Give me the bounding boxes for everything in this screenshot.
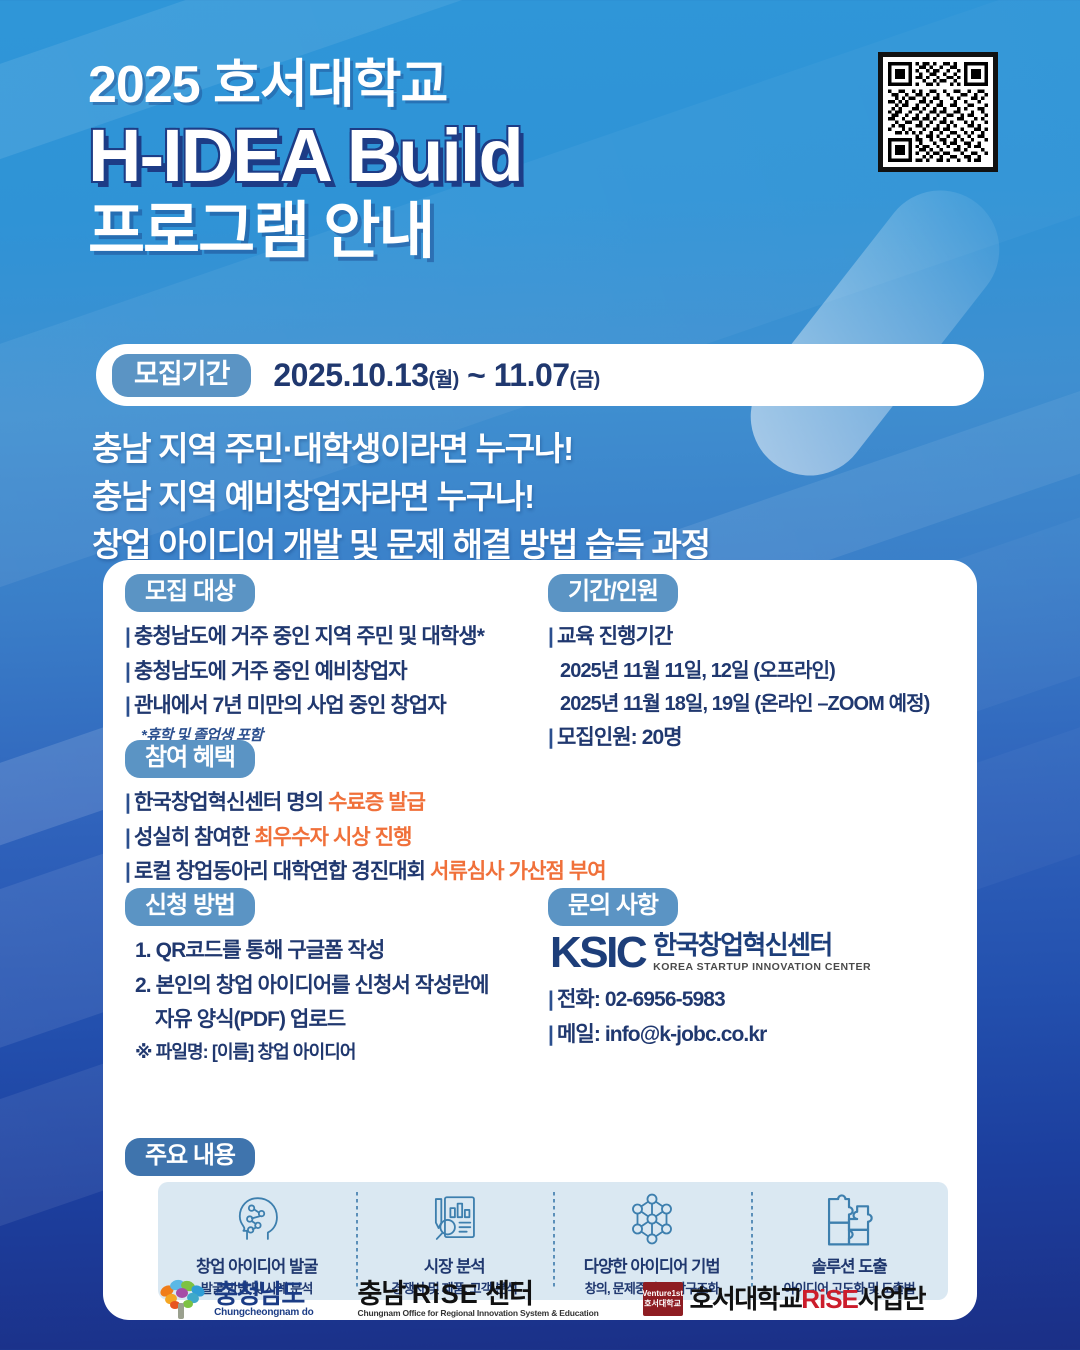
list-item: 1. QR코드를 통해 구글폼 작성 <box>135 934 555 969</box>
chungcheongnam-do-logo: 충청남도 Chungcheongnam do <box>155 1277 313 1321</box>
section-apply-title: 신청 방법 <box>125 888 255 926</box>
flower-tree-icon <box>155 1277 207 1321</box>
recruitment-period-bar: 모집기간 2025.10.13(월) ~ 11.07(금) <box>96 344 984 406</box>
section-contents-title: 주요 내용 <box>125 1138 255 1176</box>
qr-code[interactable] <box>878 52 998 172</box>
head-idea-icon <box>228 1190 286 1248</box>
recruitment-period-value: 2025.10.13(월) ~ 11.07(금) <box>273 357 599 394</box>
chungnam-rise-name-kr: 충남 RiSE 센터 <box>358 1281 599 1308</box>
chungnam-rise-logo: 충남 RiSE 센터 Chungnam Office for Regional … <box>358 1281 599 1318</box>
section-target: 모집 대상 |충청남도에 거주 중인 지역 주민 및 대학생* |충청남도에 거… <box>125 574 555 745</box>
section-target-title: 모집 대상 <box>125 574 255 612</box>
list-item: |로컬 창업동아리 대학연합 경진대회 서류심사 가산점 부여 <box>125 855 825 890</box>
intro-block: 충남 지역 주민·대학생이라면 누구나! 충남 지역 예비창업자라면 누구나! … <box>92 425 710 569</box>
title-line-3: 프로그램 안내 <box>88 198 848 266</box>
ksic-wordmark: KSIC <box>550 933 645 973</box>
intro-line-2: 충남 지역 예비창업자라면 누구나! <box>92 473 710 521</box>
period-end-day: (금) <box>570 369 600 391</box>
section-contents: 주요 내용 <box>125 1138 555 1176</box>
schedule-period-label: |교육 진행기간 <box>548 620 968 655</box>
section-benefits: 참여 혜택 |한국창업혁신센터 명의 수료증 발급 |성실히 참여한 최우수자 … <box>125 740 825 890</box>
intro-line-1: 충남 지역 주민·대학생이라면 누구나! <box>92 425 710 473</box>
list-item: |한국창업혁신센터 명의 수료증 발급 <box>125 786 825 821</box>
list-item: |관내에서 7년 미만의 사업 중인 창업자 <box>125 689 555 724</box>
contact-phone: |전화: 02-6956-5983 <box>548 983 968 1018</box>
list-item: 자유 양식(PDF) 업로드 <box>155 1003 555 1038</box>
puzzle-icon <box>820 1190 878 1248</box>
apply-note: ※ 파일명: [이름] 창업 아이디어 <box>135 1038 555 1068</box>
list-item: 2025년 11월 18일, 19일 (온라인 –ZOOM 예정) <box>560 688 968 721</box>
recruitment-period-label: 모집기간 <box>112 354 251 397</box>
list-item: |충청남도에 거주 중인 예비창업자 <box>125 655 555 690</box>
content-card: 모집 대상 |충청남도에 거주 중인 지역 주민 및 대학생* |충청남도에 거… <box>103 560 977 1320</box>
section-contact: 문의 사항 KSIC 한국창업혁신센터 KOREA STARTUP INNOVA… <box>548 888 968 1052</box>
period-start-date: 2025.10.13 <box>273 357 428 393</box>
ksic-english-name: KOREA STARTUP INNOVATION CENTER <box>653 961 871 973</box>
poster-header: 2025 호서대학교 H-IDEA Build 프로그램 안내 <box>88 56 848 266</box>
section-contact-title: 문의 사항 <box>548 888 678 926</box>
footer-logos: 충청남도 Chungcheongnam do 충남 RiSE 센터 Chungn… <box>0 1272 1080 1326</box>
section-schedule: 기간/인원 |교육 진행기간 2025년 11월 11일, 12일 (오프라인)… <box>548 574 968 755</box>
section-schedule-title: 기간/인원 <box>548 574 678 612</box>
chungcheongnam-do-name-en: Chungcheongnam do <box>214 1307 313 1318</box>
contact-email: |메일: info@k-jobc.co.kr <box>548 1018 968 1053</box>
title-line-2: H-IDEA Build <box>88 116 848 196</box>
badge-line-1: Venture1st <box>642 1289 683 1299</box>
badge-line-2: 호서대학교 <box>644 1299 681 1309</box>
period-end-date: 11.07 <box>494 357 570 393</box>
period-start-day: (월) <box>429 369 459 391</box>
hoseo-rise-name: 호서대학교RiSE사업단 <box>690 1286 925 1312</box>
section-apply: 신청 방법 1. QR코드를 통해 구글폼 작성 2. 본인의 창업 아이디어를… <box>125 888 555 1068</box>
chungcheongnam-do-name-kr: 충청남도 <box>214 1281 313 1307</box>
period-separator: ~ <box>467 357 485 393</box>
list-item: 2025년 11월 11일, 12일 (오프라인) <box>560 655 968 688</box>
section-benefits-title: 참여 혜택 <box>125 740 255 778</box>
qr-code-icon <box>888 62 988 162</box>
market-chart-icon <box>425 1190 483 1248</box>
list-item: |성실히 참여한 최우수자 시상 진행 <box>125 821 825 856</box>
title-line-1: 2025 호서대학교 <box>88 56 848 114</box>
list-item: 2. 본인의 창업 아이디어를 신청서 작성란에 <box>135 969 555 1004</box>
ksic-korean-name: 한국창업혁신센터 <box>653 932 871 958</box>
list-item: |충청남도에 거주 중인 지역 주민 및 대학생* <box>125 620 555 655</box>
hoseo-rise-logo: Venture1st 호서대학교 호서대학교RiSE사업단 <box>643 1282 925 1316</box>
chungnam-rise-name-en: Chungnam Office for Regional Innovation … <box>358 1308 599 1318</box>
ksic-logo: KSIC 한국창업혁신센터 KOREA STARTUP INNOVATION C… <box>550 932 968 973</box>
venture-first-badge: Venture1st 호서대학교 <box>643 1282 683 1316</box>
network-icon <box>623 1190 681 1248</box>
